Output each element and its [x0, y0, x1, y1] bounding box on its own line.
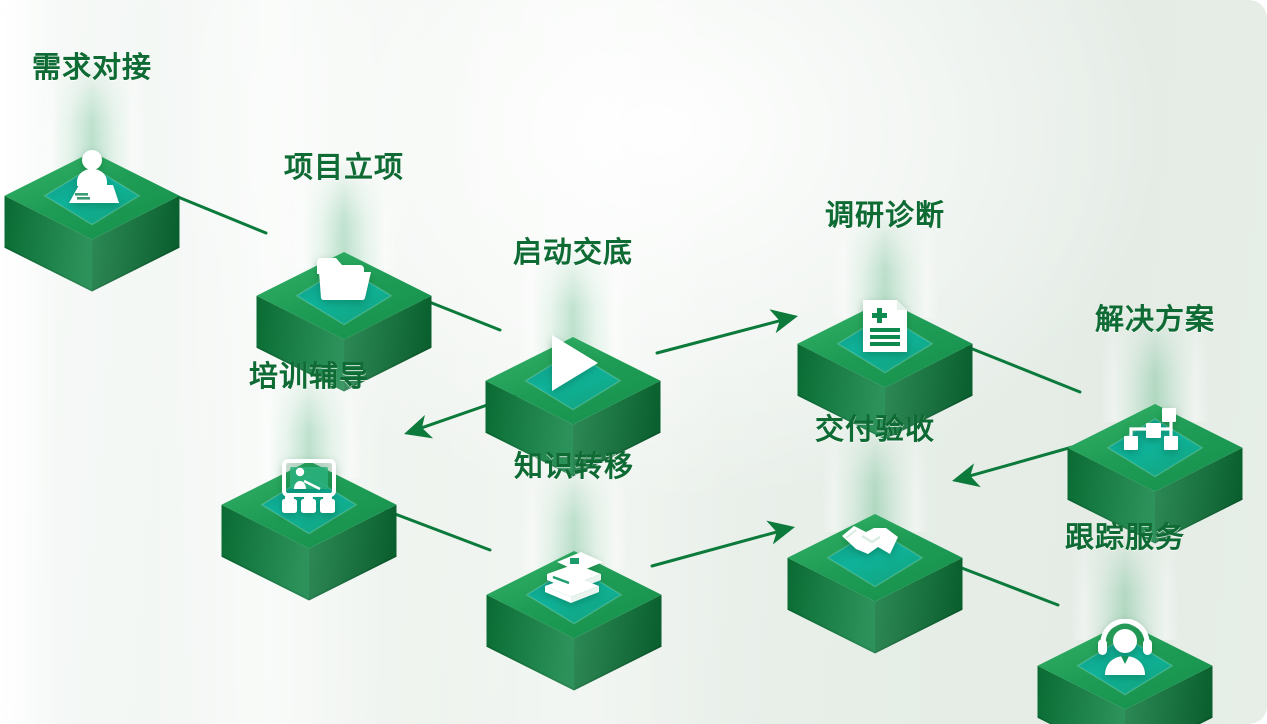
node-label-knowledge: 知识转移	[514, 443, 634, 485]
process-flow-diagram: 需求对接	[0, 0, 1267, 724]
connector-kickoff-to-research	[657, 309, 798, 353]
connector-knowledge-to-delivery	[652, 521, 795, 566]
connector-line	[657, 320, 782, 353]
node-pedestal	[487, 551, 662, 691]
connector-demand-to-project	[178, 197, 266, 233]
node-label-training: 培训辅导	[249, 353, 369, 395]
node-label-followup: 跟踪服务	[1065, 514, 1185, 556]
connector-line	[178, 197, 266, 233]
node-pedestal	[5, 152, 180, 292]
connector-line	[652, 531, 779, 566]
node-label-research: 调研诊断	[825, 192, 945, 234]
node-label-kickoff: 启动交底	[513, 229, 633, 271]
node-label-solution: 解决方案	[1095, 296, 1215, 338]
node-label-delivery: 交付验收	[815, 406, 935, 448]
node-label-demand: 需求对接	[32, 44, 152, 86]
node-pedestal	[222, 461, 397, 601]
node-pedestal	[788, 514, 963, 654]
node-label-project: 项目立项	[284, 144, 404, 186]
node-pedestal	[1038, 622, 1213, 724]
